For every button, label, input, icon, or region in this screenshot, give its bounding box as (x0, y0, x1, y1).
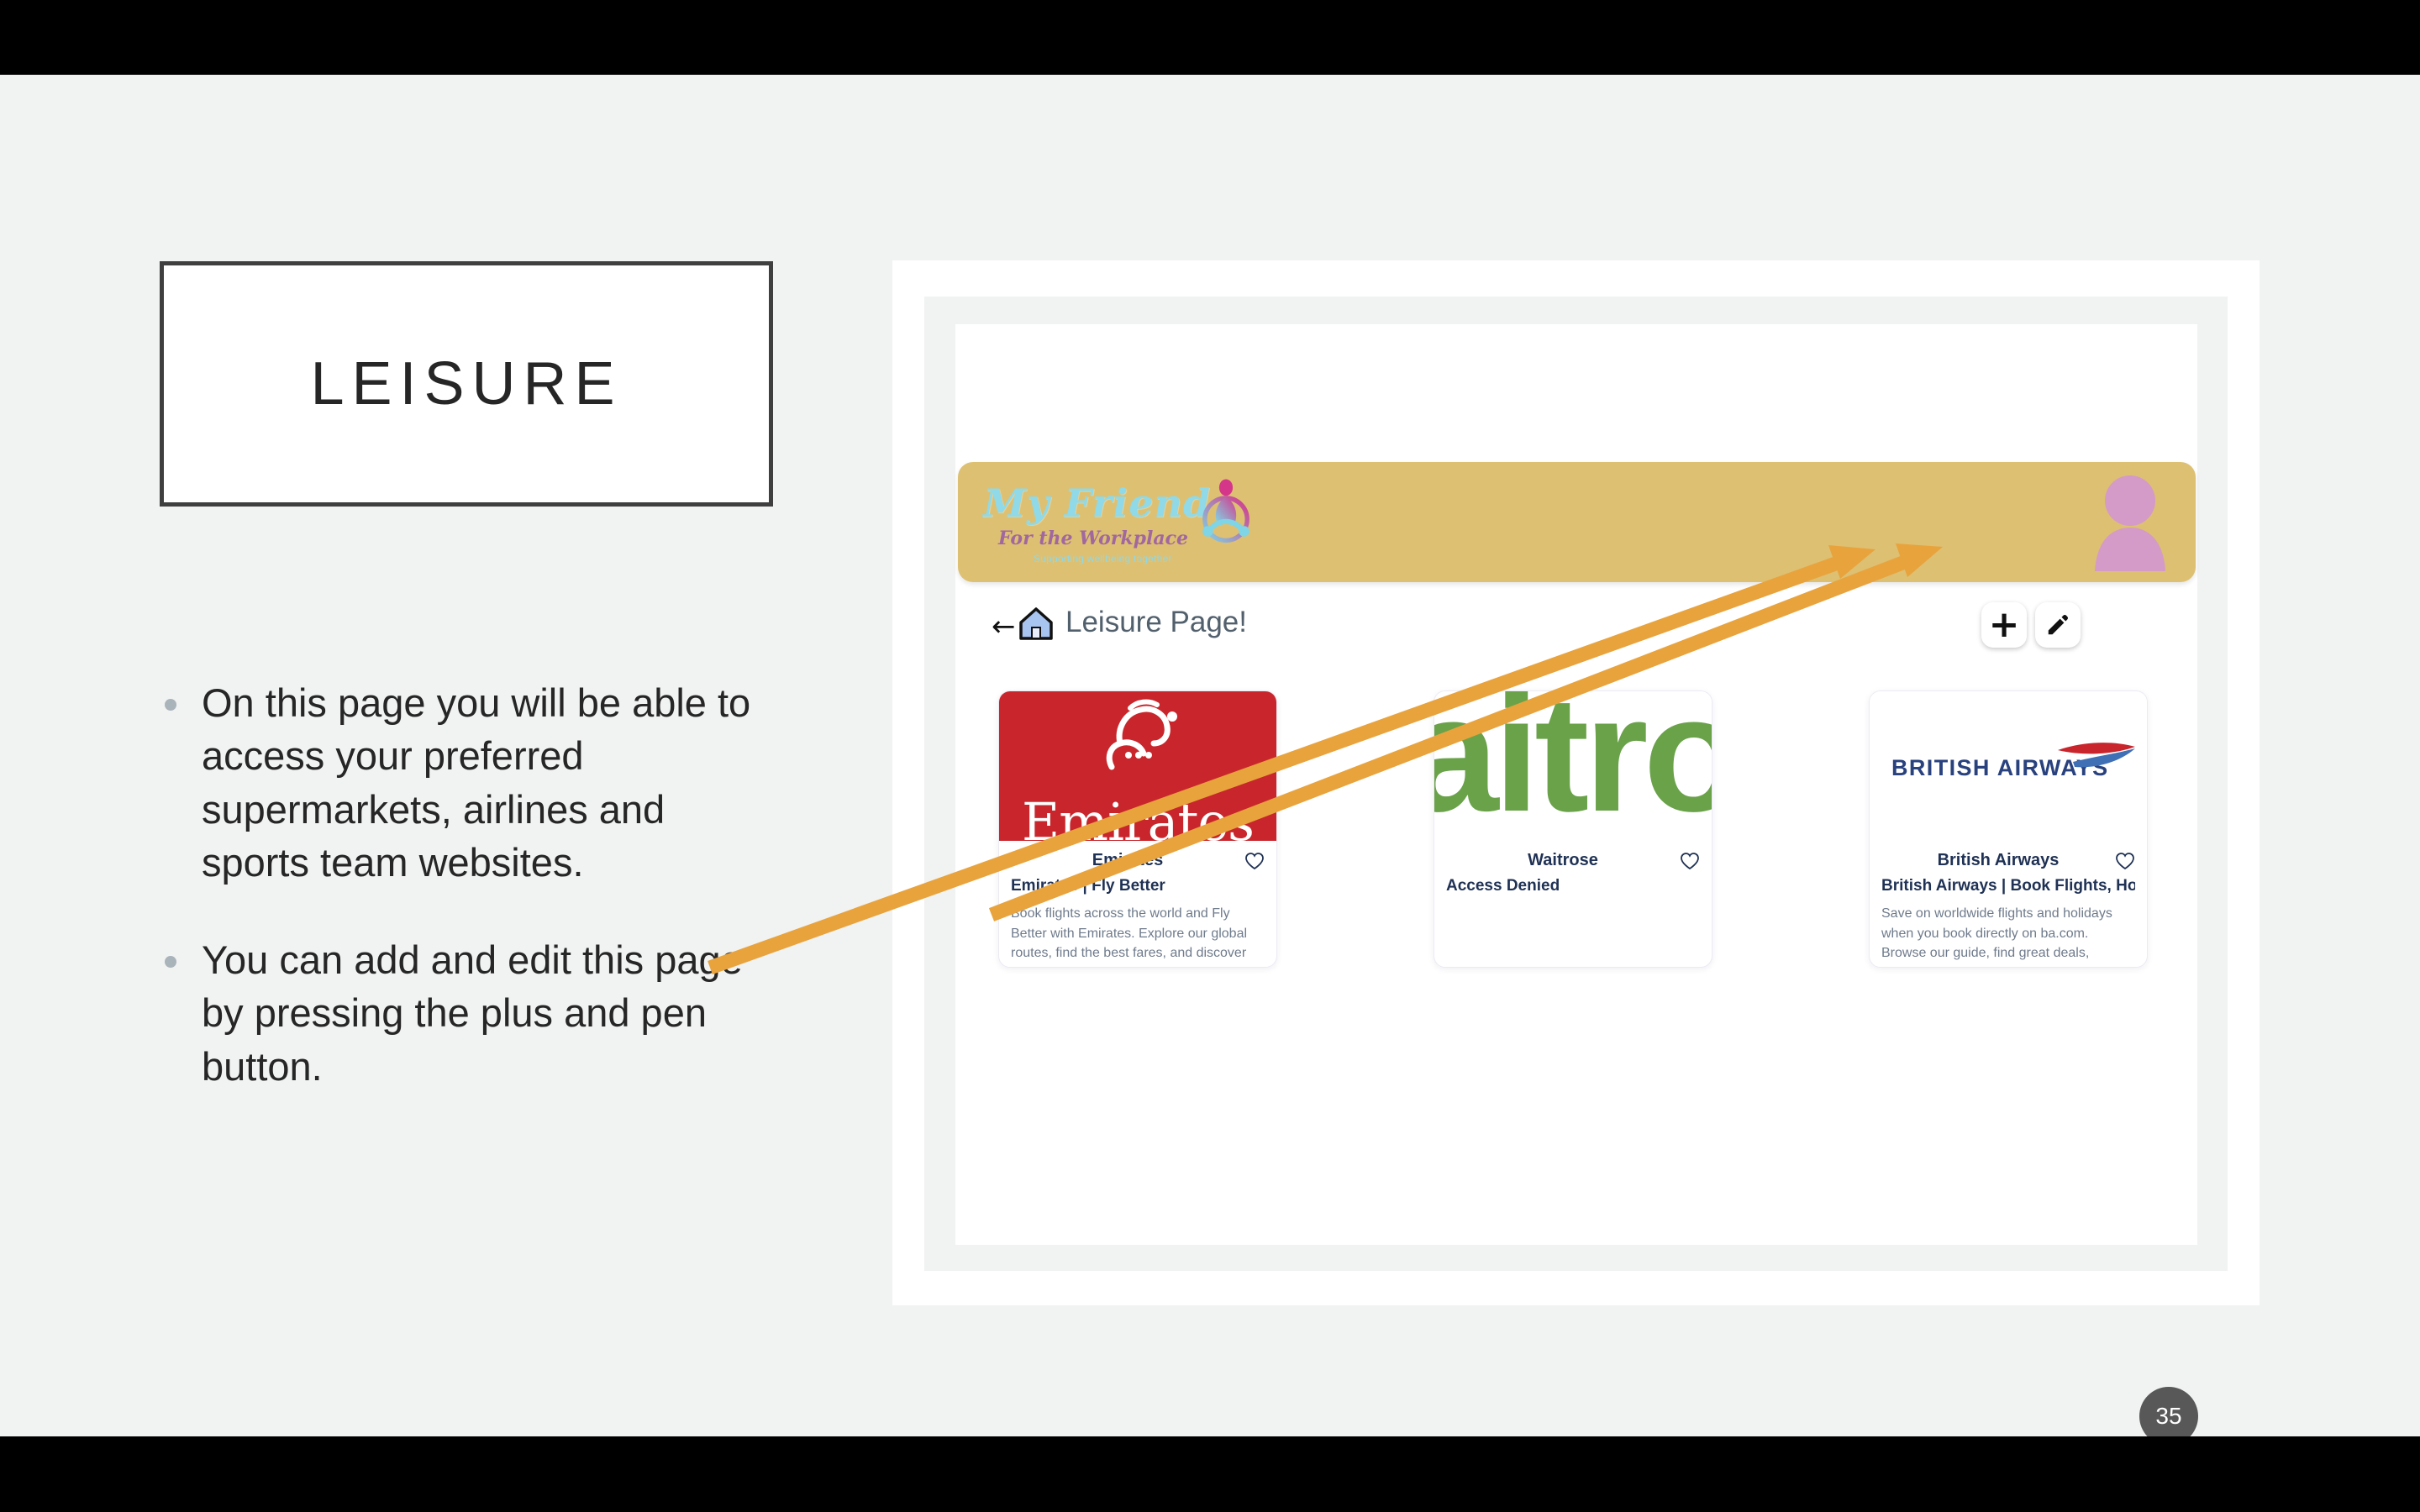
card-body: Emirates Emirates | Fly Better Book flig… (999, 841, 1276, 968)
card-body: British Airways British Airways | Book F… (1870, 841, 2147, 968)
avatar[interactable] (2090, 472, 2170, 571)
card-emirates[interactable]: Emirates Emirates Emirates | Fly Better … (998, 690, 1277, 968)
heart-outline-icon[interactable] (2115, 852, 2135, 870)
card-link[interactable]: Access Denied (1446, 877, 1700, 895)
card-waitrose[interactable]: aitro Waitrose Access Denied (1434, 690, 1712, 968)
bullet-text: You can add and edit this page by pressi… (202, 933, 753, 1093)
heart-outline-icon[interactable] (1680, 852, 1700, 870)
card-logo-text: Emirates (1022, 791, 1254, 841)
bullet-list: On this page you will be able to access … (165, 676, 753, 1137)
back-arrow-icon[interactable]: ← (992, 612, 1016, 641)
card-description: Book flights across the world and Fly Be… (1011, 904, 1265, 968)
card-title-row: British Airways (1881, 848, 2135, 875)
slide-canvas: LEISURE On this page you will be able to… (0, 0, 2420, 1512)
app-logo-name: My Friend (983, 480, 1211, 526)
card-title-row: Emirates (1011, 848, 1265, 875)
emirates-calligraphy-icon (1092, 695, 1184, 775)
plus-icon: + (1989, 606, 2020, 643)
page-title: LEISURE (310, 349, 622, 418)
page-title-box: LEISURE (160, 261, 773, 507)
card-link[interactable]: Emirates | Fly Better (1011, 877, 1265, 895)
add-button[interactable]: + (1981, 602, 2027, 648)
card-thumbnail: aitro (1434, 691, 1712, 841)
ba-speedmarque-icon (2056, 740, 2137, 775)
bullet-dot-icon (165, 699, 176, 711)
edit-button[interactable] (2035, 602, 2081, 648)
card-title: British Airways (1881, 851, 2115, 870)
card-link[interactable]: British Airways | Book Flights, Holidays… (1881, 877, 2135, 895)
bullet-text: On this page you will be able to access … (202, 676, 753, 890)
app-header-bar: My Friend For the Workplace Supporting w… (958, 462, 2196, 582)
card-title: Emirates (1011, 851, 1244, 870)
heart-outline-icon[interactable] (1244, 852, 1265, 870)
card-logo-text: aitro (1434, 691, 1712, 841)
card-title: Waitrose (1446, 851, 1680, 870)
people-circle-logo-icon (1188, 475, 1264, 551)
list-item: You can add and edit this page by pressi… (165, 933, 753, 1093)
card-description: Save on worldwide flights and holidays w… (1881, 904, 2135, 968)
card-body: Waitrose Access Denied (1434, 841, 1712, 914)
card-thumbnail: Emirates (999, 691, 1276, 841)
app-logo[interactable]: My Friend For the Workplace Supporting w… (976, 472, 1279, 573)
page-name-label: Leisure Page! (1065, 606, 1247, 639)
home-icon[interactable] (1018, 606, 1054, 641)
card-grid: Emirates Emirates Emirates | Fly Better … (998, 690, 2175, 968)
card-thumbnail: BRITISH AIRWAYS (1870, 691, 2147, 841)
user-avatar-icon (2090, 472, 2170, 571)
pencil-icon (2045, 612, 2070, 638)
slide-body: LEISURE On this page you will be able to… (0, 75, 2420, 1436)
page-number-badge: 35 (2139, 1387, 2198, 1436)
app-logo-tagline: Supporting wellbeing together (1034, 553, 1172, 564)
card-title-row: Waitrose (1446, 848, 1700, 875)
bullet-dot-icon (165, 956, 176, 968)
list-item: On this page you will be able to access … (165, 676, 753, 890)
page-header-row: ← Leisure Page! + (992, 602, 2168, 653)
app-logo-subtitle: For the Workplace (998, 528, 1188, 549)
card-british-airways[interactable]: BRITISH AIRWAYS British Airways (1869, 690, 2148, 968)
